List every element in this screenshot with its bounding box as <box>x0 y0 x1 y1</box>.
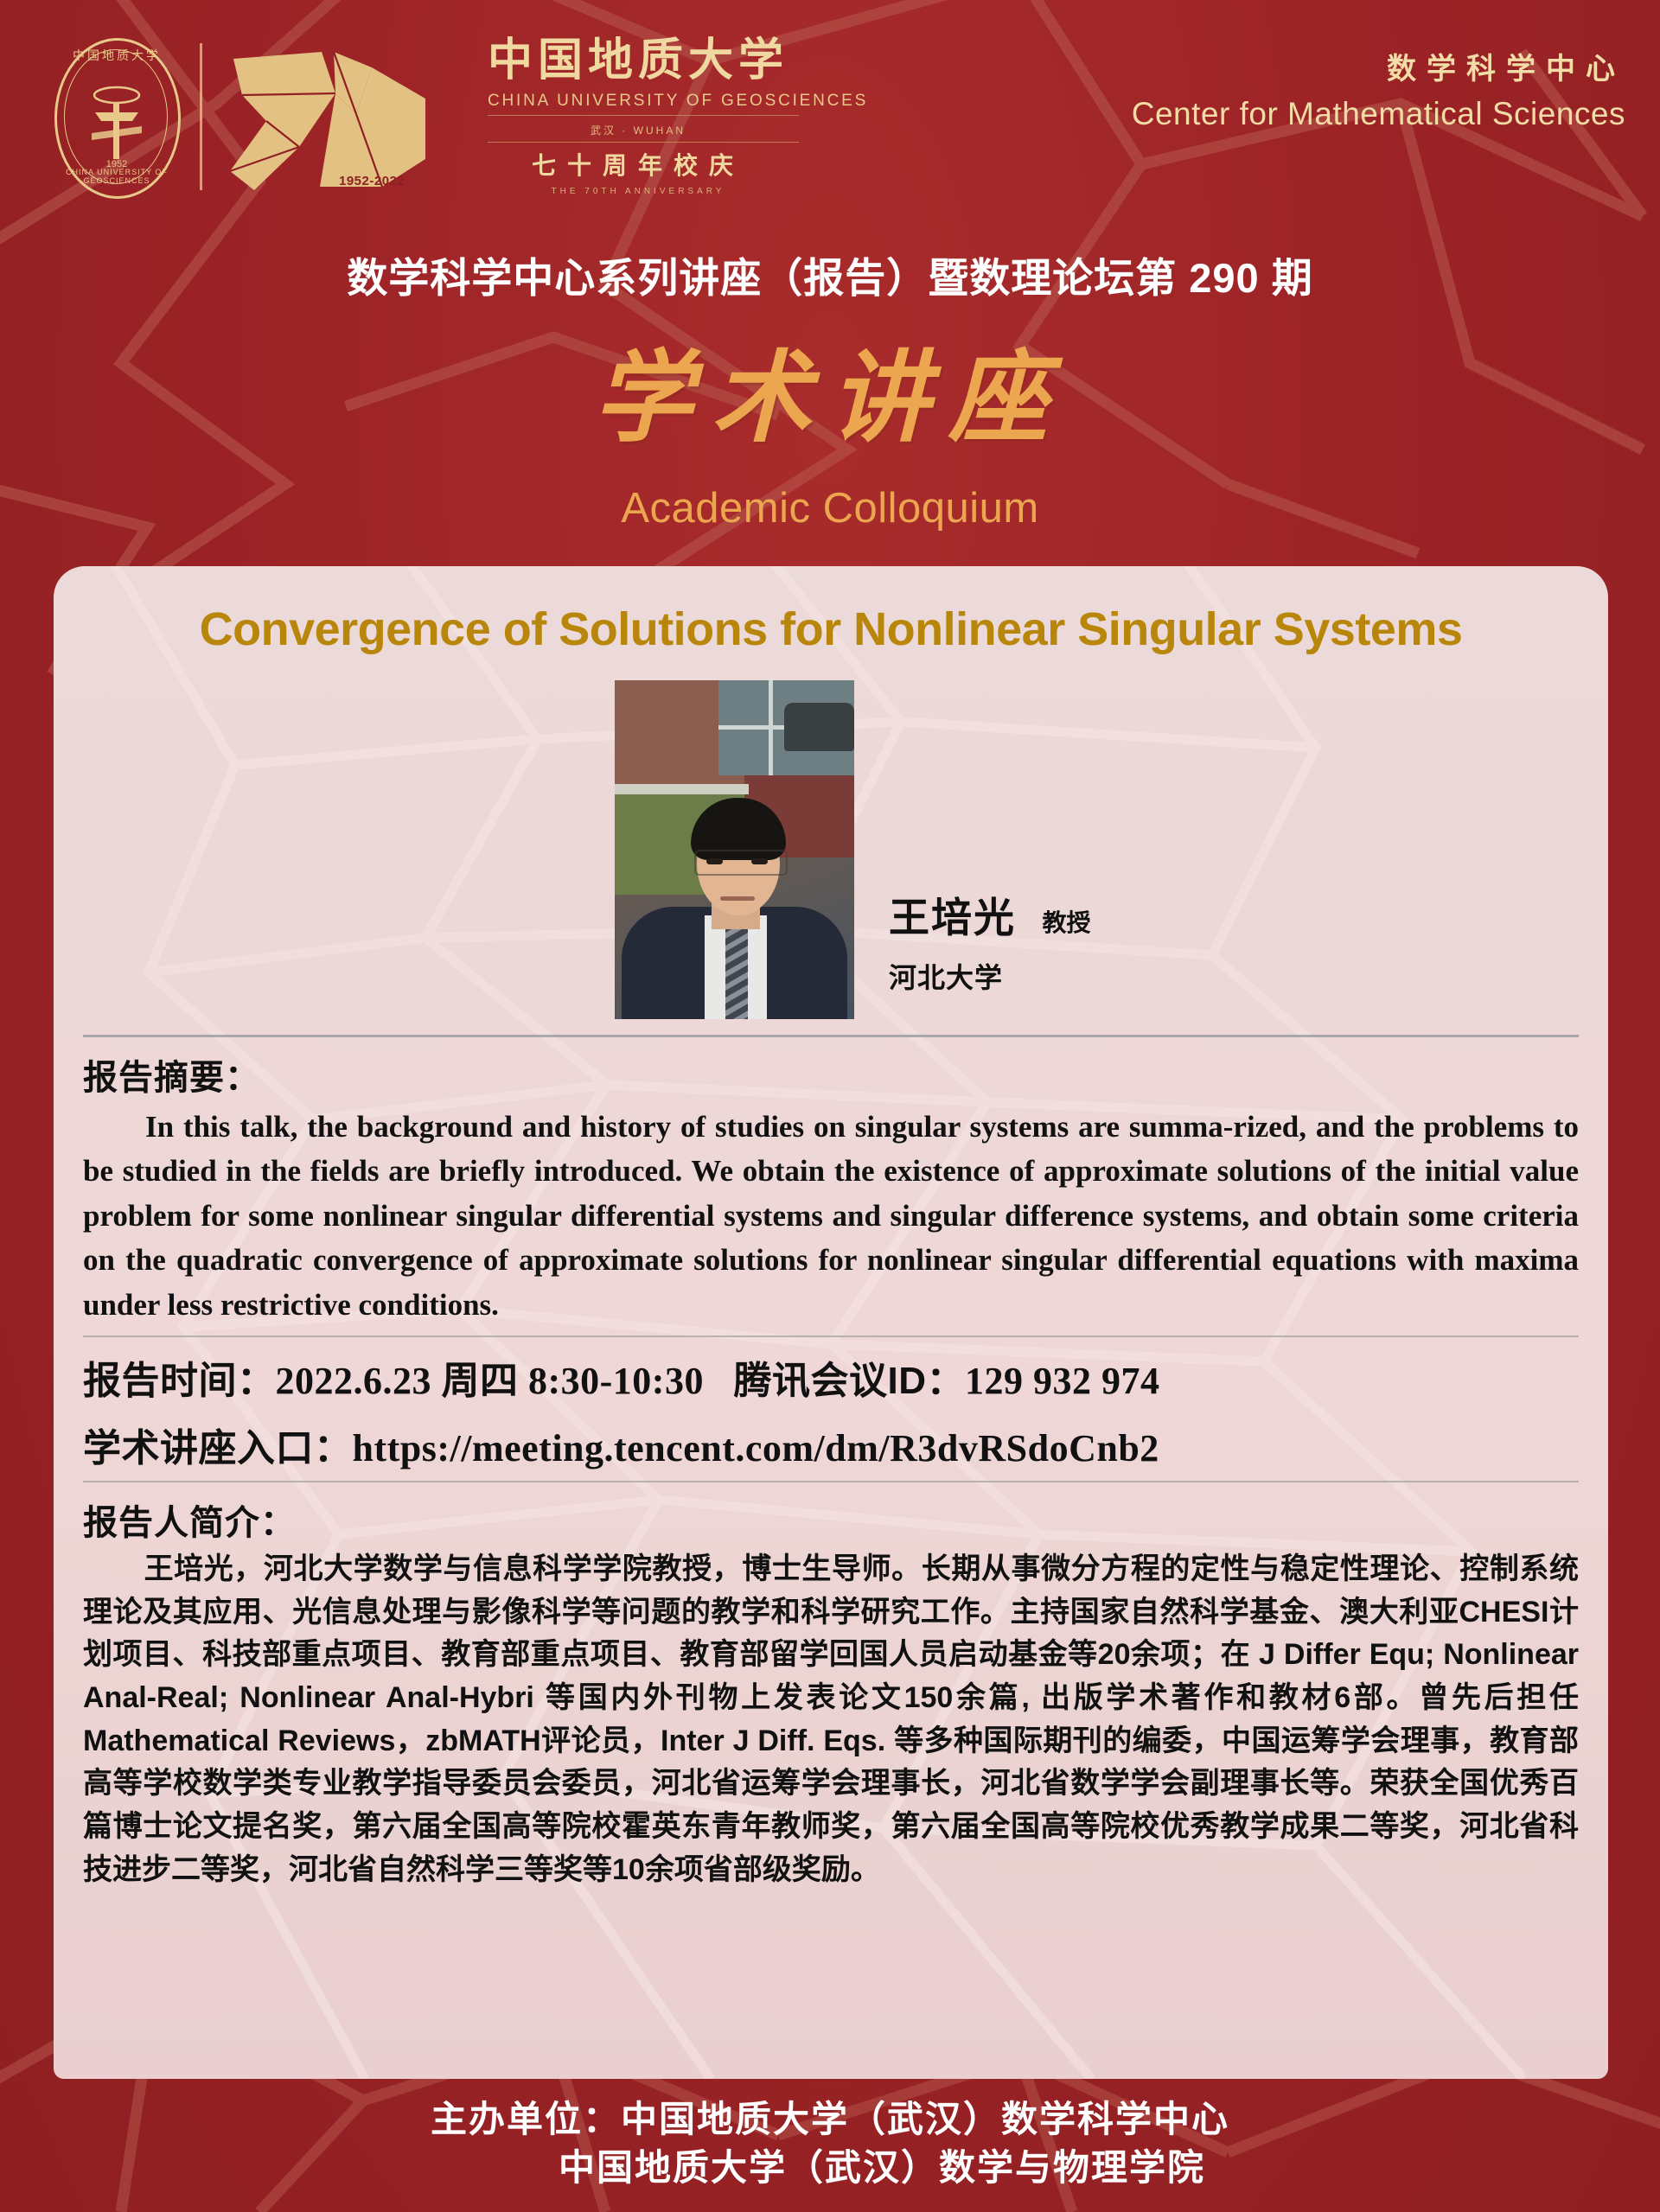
center-name-cn: 数学科学中心 <box>1132 45 1625 87</box>
abstract-heading: 报告摘要： <box>83 1049 1579 1100</box>
university-name-en: CHINA UNIVERSITY OF GEOSCIENCES <box>488 92 799 111</box>
time-label: 报告时间： <box>83 1360 276 1402</box>
logo-divider <box>200 43 202 190</box>
calligraphy-heading: 学术讲座 <box>0 344 1660 454</box>
speaker-identity: 王培光 教授 河北大学 <box>889 884 1090 996</box>
center-name-en: Center for Mathematical Sciences <box>1132 96 1625 132</box>
poster-header: 中国地质大学 1952 CHINA UNIVERSITY OF GEOSCIEN… <box>0 0 1660 229</box>
speaker-rank: 教授 <box>1042 904 1090 944</box>
poster-footer: 主办单位：中国地质大学（武汉）数学科学中心 中国地质大学（武汉）数学与物理学院 <box>0 2095 1660 2193</box>
organizer-line-2: 中国地质大学（武汉）数学与物理学院 <box>0 2144 1660 2193</box>
anniversary-years: 1952-2022 <box>339 174 405 188</box>
entry-url[interactable]: https://meeting.tencent.com/dm/R3dvRSdoC… <box>353 1427 1159 1469</box>
abstract-body: In this talk, the background and history… <box>83 1105 1579 1327</box>
speaker-name: 王培光 <box>889 884 1016 944</box>
photo-ac-unit <box>784 703 854 751</box>
organizer-line-1: 主办单位：中国地质大学（武汉）数学科学中心 <box>0 2095 1660 2145</box>
speaker-photo <box>615 680 854 1019</box>
bio-heading: 报告人简介： <box>83 1495 1579 1545</box>
talk-entry-line[interactable]: 学术讲座入口：https://meeting.tencent.com/dm/R3… <box>83 1417 1579 1472</box>
content-card: Convergence of Solutions for Nonlinear S… <box>54 566 1608 2079</box>
series-title: 数学科学中心系列讲座（报告）暨数理论坛第 290 期 <box>0 245 1660 304</box>
speaker-affiliation: 河北大学 <box>889 956 1090 996</box>
talk-time-line: 报告时间：2022.6.23 周四 8:30-10:30 腾讯会议ID：129 … <box>83 1349 1579 1405</box>
meeting-id-value: 129 932 974 <box>965 1360 1160 1402</box>
geologist-hammer-icon <box>88 80 145 166</box>
photo-tie <box>725 926 748 1019</box>
colloquium-subtitle: Academic Colloquium <box>0 484 1660 532</box>
photo-eye-right <box>751 858 768 864</box>
talk-title: Convergence of Solutions for Nonlinear S… <box>83 602 1579 656</box>
anniversary-text-en: THE 70TH ANNIVERSARY <box>488 187 788 196</box>
anniversary-text-cn: 七十周年校庆 <box>488 147 788 182</box>
university-logo-block: 中国地质大学 1952 CHINA UNIVERSITY OF GEOSCIEN… <box>48 35 799 199</box>
anniversary-numeral-icon <box>225 41 445 197</box>
photo-mouth <box>720 896 755 901</box>
divider-above-bio <box>83 1481 1579 1482</box>
divider-above-details <box>83 1335 1579 1337</box>
photo-rail <box>615 784 749 794</box>
university-nameplate: 中国地质大学 CHINA UNIVERSITY OF GEOSCIENCES 武… <box>488 38 799 196</box>
anniversary-70-logo: 1952-2022 <box>225 35 484 199</box>
bio-text: 王培光，河北大学数学与信息科学学院教授，博士生导师。长期从事微分方程的定性与稳定… <box>83 1552 1579 1885</box>
speaker-block: 王培光 教授 河北大学 <box>83 680 1579 1026</box>
university-seal-icon: 中国地质大学 1952 CHINA UNIVERSITY OF GEOSCIEN… <box>48 35 186 199</box>
meeting-id-label: 腾讯会议ID： <box>733 1360 965 1402</box>
nameplate-divider-mid <box>488 142 799 143</box>
seal-bottom-text: CHINA UNIVERSITY OF GEOSCIENCES <box>48 168 186 185</box>
nameplate-divider-top <box>488 115 799 116</box>
entry-label: 学术讲座入口： <box>83 1427 353 1469</box>
card-content: Convergence of Solutions for Nonlinear S… <box>54 602 1608 1891</box>
photo-eye-left <box>706 858 723 864</box>
bio-body: 王培光，河北大学数学与信息科学学院教授，博士生导师。长期从事微分方程的定性与稳定… <box>83 1548 1579 1891</box>
center-nameplate: 数学科学中心 Center for Mathematical Sciences <box>1132 45 1625 132</box>
divider-above-abstract <box>83 1035 1579 1037</box>
poster-canvas: 中国地质大学 1952 CHINA UNIVERSITY OF GEOSCIEN… <box>0 0 1660 2212</box>
university-campus: 武汉 · WUHAN <box>488 123 788 137</box>
time-value: 2022.6.23 周四 8:30-10:30 <box>276 1360 704 1402</box>
abstract-text: In this talk, the background and history… <box>83 1110 1579 1322</box>
university-name-cn: 中国地质大学 <box>488 38 799 83</box>
seal-top-text: 中国地质大学 <box>48 47 186 64</box>
